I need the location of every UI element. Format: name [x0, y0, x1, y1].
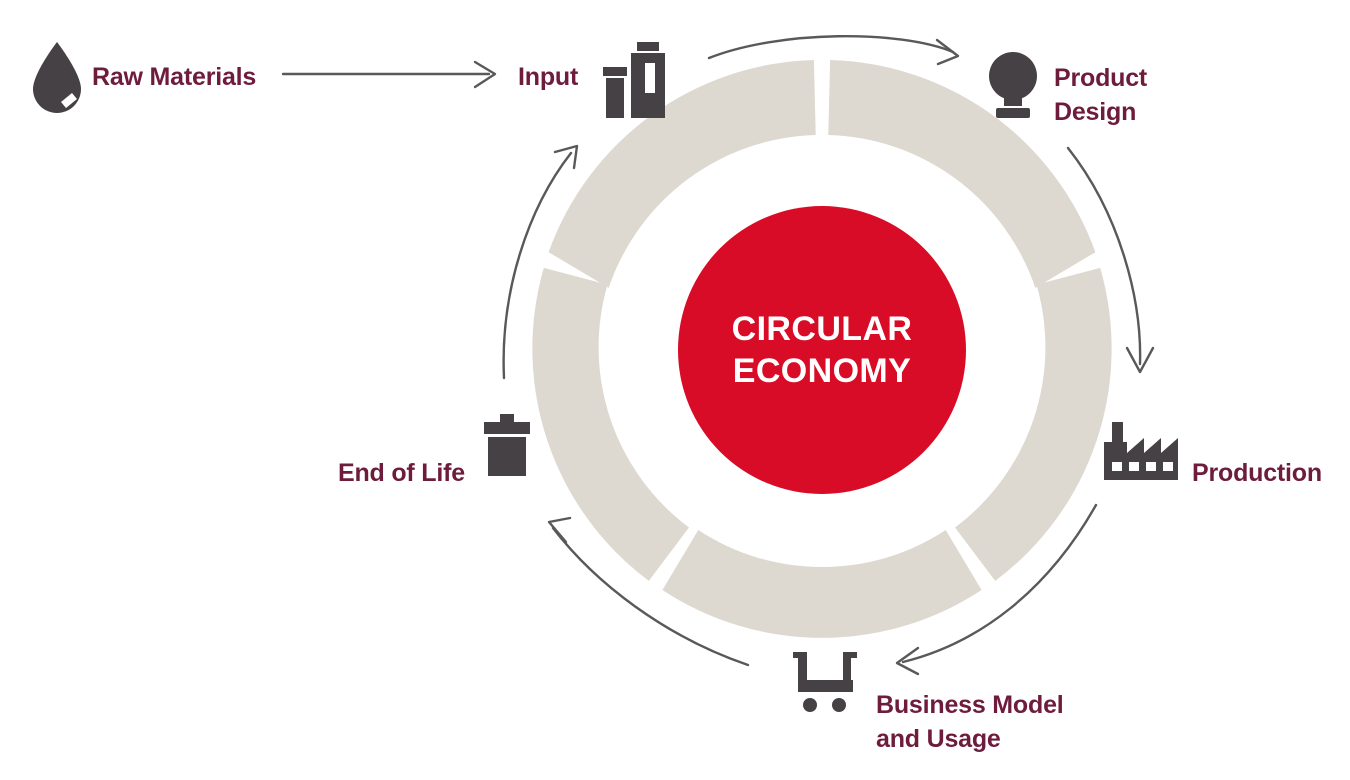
label-end-of-life: End of Life	[338, 456, 465, 490]
label-input: Input	[518, 60, 578, 94]
containers-icon	[601, 42, 667, 123]
arrow-business-to-endoflife	[549, 518, 748, 665]
label-raw-materials: Raw Materials	[92, 60, 256, 94]
droplet-icon	[30, 40, 84, 121]
arrow-endoflife-to-input	[504, 146, 577, 378]
label-product-design: Product Design	[1054, 61, 1147, 129]
label-production: Production	[1192, 456, 1322, 490]
arrow-input-to-design	[709, 36, 958, 64]
centre-circle: CIRCULAR ECONOMY	[678, 206, 966, 494]
arrow-layer	[0, 0, 1350, 780]
label-business-model-and-usage: Business Model and Usage	[876, 688, 1064, 756]
arrow-production-to-business	[897, 505, 1096, 674]
factory-icon	[1104, 422, 1178, 485]
shopping-cart-icon	[791, 650, 863, 717]
arrow-design-to-production	[1068, 148, 1153, 372]
lightbulb-icon	[985, 50, 1041, 125]
arrow-raw-to-input	[283, 62, 495, 87]
centre-title: CIRCULAR ECONOMY	[732, 308, 913, 392]
trash-bin-icon	[482, 414, 532, 481]
circular-economy-diagram: CIRCULAR ECONOMY	[0, 0, 1350, 780]
